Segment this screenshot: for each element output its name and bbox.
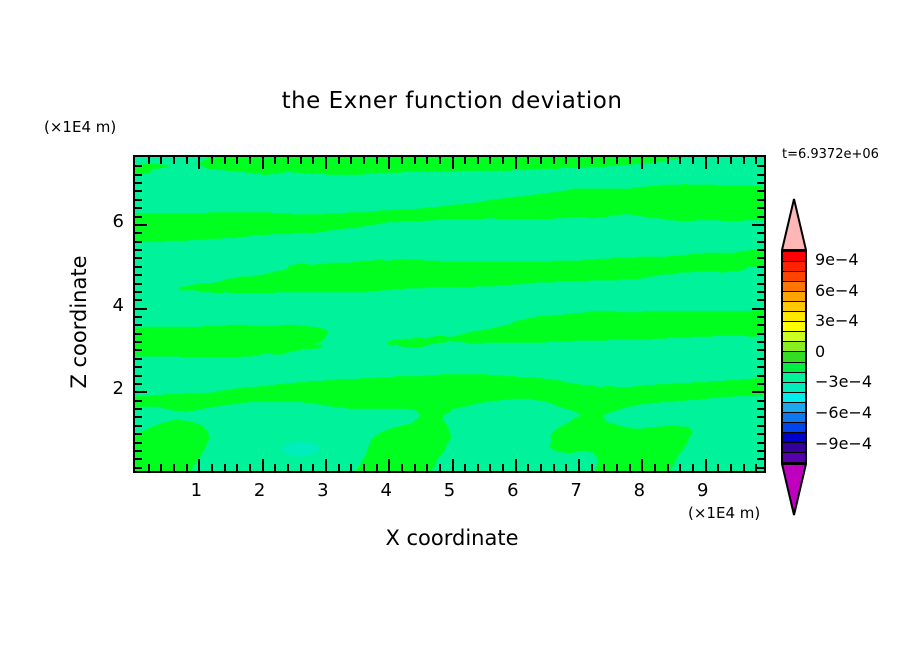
- colorbar-band: [783, 393, 805, 403]
- y-minor-tick: [135, 174, 142, 176]
- colorbar-tick-label: 9e−4: [815, 250, 859, 269]
- y-minor-tick: [135, 375, 142, 377]
- x-minor-tick: [160, 464, 162, 471]
- y-minor-tick: [135, 190, 142, 192]
- x-major-tick: [452, 459, 454, 471]
- colorbar-band: [783, 282, 805, 292]
- colorbar-band: [783, 363, 805, 373]
- x-minor-tick: [527, 464, 529, 471]
- x-minor-tick: [730, 157, 732, 164]
- x-minor-tick: [211, 464, 213, 471]
- y-minor-tick: [135, 467, 142, 469]
- x-minor-tick: [401, 157, 403, 164]
- y-minor-tick: [757, 182, 764, 184]
- y-minor-tick: [135, 333, 142, 335]
- colorbar-tick-label: 0: [815, 342, 825, 361]
- y-minor-tick: [135, 199, 142, 201]
- y-minor-tick: [757, 450, 764, 452]
- colorbar-band: [783, 312, 805, 322]
- y-tick-label: 4: [98, 295, 124, 316]
- x-minor-tick: [186, 464, 188, 471]
- x-minor-tick: [553, 157, 555, 164]
- y-minor-tick: [757, 458, 764, 460]
- x-minor-tick: [211, 157, 213, 164]
- colorbar-band: [783, 383, 805, 393]
- x-minor-tick: [629, 464, 631, 471]
- y-minor-tick: [757, 366, 764, 368]
- colorbar-band: [783, 252, 805, 262]
- x-minor-tick: [274, 464, 276, 471]
- y-minor-tick: [135, 266, 142, 268]
- x-minor-tick: [160, 157, 162, 164]
- x-tick-label: 1: [176, 480, 216, 501]
- y-minor-tick: [757, 358, 764, 360]
- x-minor-tick: [414, 464, 416, 471]
- x-tick-label: 7: [556, 480, 596, 501]
- y-major-tick: [752, 308, 764, 310]
- x-minor-tick: [439, 464, 441, 471]
- y-minor-tick: [757, 349, 764, 351]
- y-major-tick: [752, 391, 764, 393]
- x-major-tick: [578, 459, 580, 471]
- x-major-tick: [388, 459, 390, 471]
- y-minor-tick: [757, 266, 764, 268]
- y-minor-tick: [757, 433, 764, 435]
- x-minor-tick: [363, 464, 365, 471]
- x-minor-tick: [565, 464, 567, 471]
- colorbar-band: [783, 322, 805, 332]
- x-minor-tick: [287, 464, 289, 471]
- x-minor-tick: [717, 157, 719, 164]
- x-tick-label: 6: [493, 480, 533, 501]
- y-minor-tick: [135, 458, 142, 460]
- y-minor-tick: [135, 450, 142, 452]
- y-minor-tick: [757, 207, 764, 209]
- y-minor-tick: [757, 400, 764, 402]
- x-minor-tick: [616, 464, 618, 471]
- x-major-tick: [705, 157, 707, 169]
- y-minor-tick: [757, 232, 764, 234]
- x-minor-tick: [300, 464, 302, 471]
- colorbar-band: [783, 302, 805, 312]
- x-major-tick: [641, 157, 643, 169]
- x-minor-tick: [376, 157, 378, 164]
- x-minor-tick: [692, 464, 694, 471]
- x-minor-tick: [363, 157, 365, 164]
- x-tick-label: 9: [683, 480, 723, 501]
- x-minor-tick: [489, 157, 491, 164]
- y-axis-title: Z coordinate: [67, 212, 91, 432]
- y-minor-tick: [757, 165, 764, 167]
- x-minor-tick: [148, 157, 150, 164]
- x-tick-label: 4: [366, 480, 406, 501]
- x-axis-unit-label: (×1E4 m): [688, 504, 760, 522]
- colorbar-over-arrow: [781, 198, 807, 251]
- y-minor-tick: [757, 467, 764, 469]
- colorbar-tick-label: −9e−4: [815, 434, 872, 453]
- x-minor-tick: [667, 157, 669, 164]
- y-tick-label: 6: [98, 211, 124, 232]
- x-major-tick: [198, 157, 200, 169]
- y-minor-tick: [757, 442, 764, 444]
- x-minor-tick: [654, 157, 656, 164]
- y-minor-tick: [135, 241, 142, 243]
- x-minor-tick: [350, 157, 352, 164]
- y-major-tick: [135, 224, 147, 226]
- x-minor-tick: [464, 464, 466, 471]
- x-minor-tick: [692, 157, 694, 164]
- x-minor-tick: [502, 157, 504, 164]
- x-minor-tick: [743, 157, 745, 164]
- y-minor-tick: [135, 349, 142, 351]
- y-minor-tick: [135, 324, 142, 326]
- y-minor-tick: [135, 341, 142, 343]
- x-tick-label: 2: [240, 480, 280, 501]
- y-minor-tick: [135, 165, 142, 167]
- x-minor-tick: [249, 464, 251, 471]
- x-major-tick: [325, 157, 327, 169]
- x-minor-tick: [236, 157, 238, 164]
- x-minor-tick: [236, 464, 238, 471]
- y-minor-tick: [757, 408, 764, 410]
- colorbar-band: [783, 292, 805, 302]
- y-minor-tick: [135, 316, 142, 318]
- colorbar-tick-label: 3e−4: [815, 311, 859, 330]
- y-minor-tick: [757, 324, 764, 326]
- x-major-tick: [388, 157, 390, 169]
- y-minor-tick: [757, 333, 764, 335]
- x-minor-tick: [464, 157, 466, 164]
- y-major-tick: [135, 391, 147, 393]
- x-minor-tick: [312, 464, 314, 471]
- x-minor-tick: [249, 157, 251, 164]
- y-major-tick: [135, 308, 147, 310]
- x-minor-tick: [274, 157, 276, 164]
- colorbar-band: [783, 423, 805, 433]
- y-minor-tick: [135, 216, 142, 218]
- x-minor-tick: [679, 464, 681, 471]
- contour-figure: the Exner function deviation (×1E4 m) (×…: [0, 0, 904, 654]
- y-minor-tick: [757, 416, 764, 418]
- x-minor-tick: [186, 157, 188, 164]
- x-minor-tick: [502, 464, 504, 471]
- x-minor-tick: [401, 464, 403, 471]
- x-minor-tick: [224, 157, 226, 164]
- x-minor-tick: [287, 157, 289, 164]
- x-minor-tick: [439, 157, 441, 164]
- colorbar-band: [783, 453, 805, 462]
- x-minor-tick: [426, 464, 428, 471]
- x-minor-tick: [540, 464, 542, 471]
- y-minor-tick: [135, 232, 142, 234]
- y-minor-tick: [135, 207, 142, 209]
- x-tick-label: 5: [430, 480, 470, 501]
- x-minor-tick: [426, 157, 428, 164]
- y-minor-tick: [757, 274, 764, 276]
- x-minor-tick: [565, 157, 567, 164]
- x-minor-tick: [527, 157, 529, 164]
- y-minor-tick: [757, 249, 764, 251]
- x-major-tick: [325, 459, 327, 471]
- x-major-tick: [515, 157, 517, 169]
- colorbar-tick-label: −6e−4: [815, 403, 872, 422]
- y-minor-tick: [135, 433, 142, 435]
- x-minor-tick: [338, 157, 340, 164]
- x-minor-tick: [667, 464, 669, 471]
- x-minor-tick: [540, 157, 542, 164]
- x-major-tick: [515, 459, 517, 471]
- x-tick-label: 8: [619, 480, 659, 501]
- x-minor-tick: [616, 157, 618, 164]
- y-minor-tick: [757, 341, 764, 343]
- x-axis-title: X coordinate: [0, 526, 904, 550]
- colorbar-band: [783, 403, 805, 413]
- x-minor-tick: [414, 157, 416, 164]
- x-minor-tick: [603, 157, 605, 164]
- x-major-tick: [262, 459, 264, 471]
- y-minor-tick: [135, 400, 142, 402]
- y-tick-label: 2: [98, 378, 124, 399]
- y-minor-tick: [135, 182, 142, 184]
- page-title: the Exner function deviation: [0, 88, 904, 114]
- y-minor-tick: [757, 257, 764, 259]
- x-tick-label: 3: [303, 480, 343, 501]
- x-minor-tick: [553, 464, 555, 471]
- y-minor-tick: [757, 199, 764, 201]
- colorbar-tick-label: −3e−4: [815, 372, 872, 391]
- x-minor-tick: [173, 464, 175, 471]
- y-minor-tick: [757, 291, 764, 293]
- x-minor-tick: [224, 464, 226, 471]
- y-minor-tick: [135, 425, 142, 427]
- colorbar-band: [783, 262, 805, 272]
- y-minor-tick: [757, 283, 764, 285]
- x-minor-tick: [376, 464, 378, 471]
- x-major-tick: [262, 157, 264, 169]
- y-axis-unit-label: (×1E4 m): [44, 118, 116, 136]
- colorbar-band: [783, 352, 805, 362]
- timestamp-annotation: t=6.9372e+06: [782, 147, 879, 162]
- x-minor-tick: [300, 157, 302, 164]
- x-minor-tick: [173, 157, 175, 164]
- x-minor-tick: [755, 157, 757, 164]
- y-minor-tick: [135, 274, 142, 276]
- y-minor-tick: [757, 375, 764, 377]
- colorbar-band: [783, 413, 805, 423]
- x-major-tick: [705, 459, 707, 471]
- y-minor-tick: [135, 291, 142, 293]
- contour-field: [135, 157, 764, 471]
- plot-area: [133, 155, 766, 473]
- x-minor-tick: [654, 464, 656, 471]
- x-minor-tick: [591, 157, 593, 164]
- colorbar-band: [783, 342, 805, 352]
- colorbar-band: [783, 433, 805, 443]
- y-minor-tick: [135, 366, 142, 368]
- x-minor-tick: [489, 464, 491, 471]
- y-minor-tick: [135, 383, 142, 385]
- y-minor-tick: [135, 416, 142, 418]
- y-major-tick: [752, 224, 764, 226]
- y-minor-tick: [135, 257, 142, 259]
- y-minor-tick: [135, 299, 142, 301]
- y-minor-tick: [135, 249, 142, 251]
- y-minor-tick: [135, 442, 142, 444]
- y-minor-tick: [757, 174, 764, 176]
- x-minor-tick: [148, 464, 150, 471]
- x-major-tick: [641, 459, 643, 471]
- x-minor-tick: [743, 464, 745, 471]
- x-minor-tick: [477, 157, 479, 164]
- x-minor-tick: [591, 464, 593, 471]
- colorbar-band: [783, 373, 805, 383]
- y-minor-tick: [135, 283, 142, 285]
- y-minor-tick: [757, 216, 764, 218]
- colorbar-tick-label: 6e−4: [815, 281, 859, 300]
- x-major-tick: [452, 157, 454, 169]
- y-minor-tick: [757, 316, 764, 318]
- x-major-tick: [198, 459, 200, 471]
- x-minor-tick: [717, 464, 719, 471]
- colorbar[interactable]: [781, 250, 807, 464]
- y-minor-tick: [135, 408, 142, 410]
- x-minor-tick: [629, 157, 631, 164]
- colorbar-band: [783, 332, 805, 342]
- y-minor-tick: [757, 383, 764, 385]
- x-minor-tick: [350, 464, 352, 471]
- colorbar-band: [783, 272, 805, 282]
- y-minor-tick: [757, 241, 764, 243]
- y-minor-tick: [757, 425, 764, 427]
- colorbar-band: [783, 443, 805, 453]
- x-major-tick: [578, 157, 580, 169]
- x-minor-tick: [312, 157, 314, 164]
- x-minor-tick: [477, 464, 479, 471]
- x-minor-tick: [730, 464, 732, 471]
- colorbar-under-arrow: [781, 463, 807, 516]
- x-minor-tick: [338, 464, 340, 471]
- y-minor-tick: [757, 299, 764, 301]
- y-minor-tick: [135, 358, 142, 360]
- x-minor-tick: [603, 464, 605, 471]
- y-minor-tick: [757, 190, 764, 192]
- x-minor-tick: [679, 157, 681, 164]
